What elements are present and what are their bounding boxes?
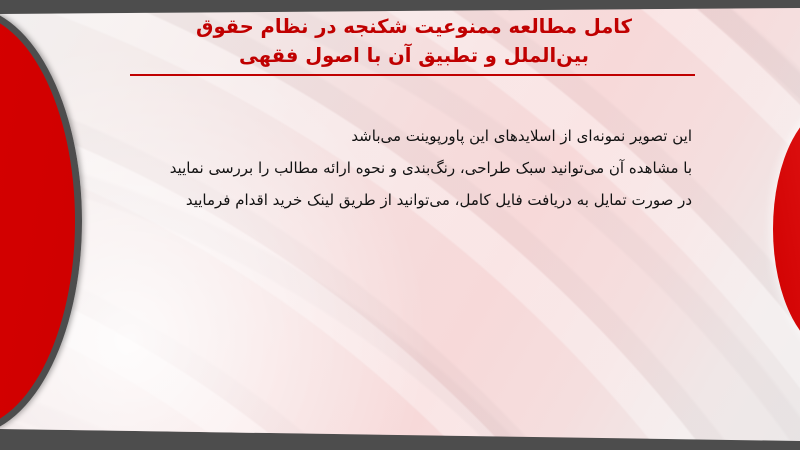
slide-title-line-1: کامل مطالعه ممنوعیت شکنجه در نظام حقوق	[84, 12, 744, 41]
slide-title-line-2: بین‌الملل و تطبیق آن با اصول فقهی	[84, 41, 744, 70]
body-line-3: در صورت تمایل به دریافت فایل کامل، می‌تو…	[112, 184, 692, 216]
presentation-slide: کامل مطالعه ممنوعیت شکنجه در نظام حقوق ب…	[0, 0, 800, 450]
slide-content-panel: کامل مطالعه ممنوعیت شکنجه در نظام حقوق ب…	[0, 0, 800, 450]
red-ellipse-right-icon	[773, 103, 800, 355]
title-underline-rule	[130, 74, 695, 76]
slide-body-text: این تصویر نمونه‌ای از اسلایدهای این پاور…	[112, 120, 692, 216]
slide-title: کامل مطالعه ممنوعیت شکنجه در نظام حقوق ب…	[84, 12, 744, 70]
body-line-1: این تصویر نمونه‌ای از اسلایدهای این پاور…	[112, 120, 692, 152]
red-ellipse-left-icon	[0, 6, 82, 436]
body-line-2: با مشاهده آن می‌توانید سبک طراحی، رنگ‌بن…	[112, 152, 692, 184]
